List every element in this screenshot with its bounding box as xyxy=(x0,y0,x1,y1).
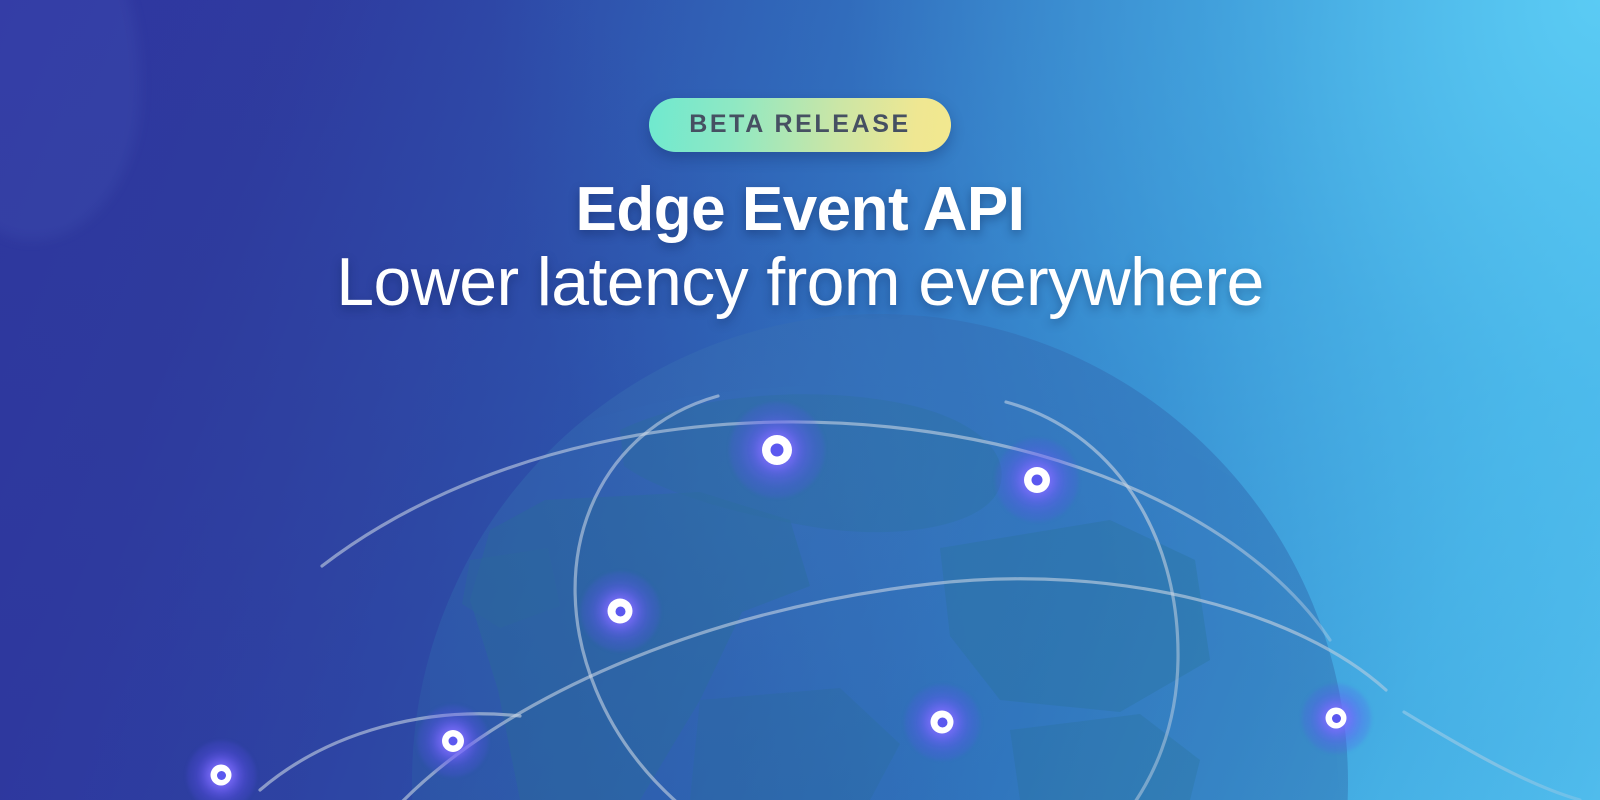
page-subtitle: Lower latency from everywhere xyxy=(0,246,1600,319)
network-node-northeast[interactable] xyxy=(1024,467,1050,493)
hero-banner: BETA RELEASE Edge Event API Lower latenc… xyxy=(0,0,1600,800)
node-core-icon xyxy=(615,606,625,616)
node-core-icon xyxy=(1032,475,1043,486)
network-node-southwest[interactable] xyxy=(442,730,464,752)
hero-text-block: BETA RELEASE Edge Event API Lower latenc… xyxy=(0,0,1600,320)
network-node-south-center[interactable] xyxy=(931,711,954,734)
network-node-center-west[interactable] xyxy=(608,599,633,624)
node-ring-icon xyxy=(762,435,792,465)
node-ring-icon xyxy=(608,599,633,624)
page-title: Edge Event API xyxy=(0,178,1600,242)
node-core-icon xyxy=(217,771,226,780)
network-node-north[interactable] xyxy=(762,435,792,465)
node-ring-icon xyxy=(442,730,464,752)
node-ring-icon xyxy=(1326,708,1347,729)
node-ring-icon xyxy=(211,765,232,786)
node-core-icon xyxy=(449,737,458,746)
node-core-icon xyxy=(771,444,784,457)
node-ring-icon xyxy=(1024,467,1050,493)
node-ring-icon xyxy=(931,711,954,734)
network-node-far-southwest[interactable] xyxy=(211,765,232,786)
node-core-icon xyxy=(1332,714,1341,723)
network-node-far-east[interactable] xyxy=(1326,708,1347,729)
status-badge: BETA RELEASE xyxy=(649,98,951,152)
node-core-icon xyxy=(937,717,947,727)
